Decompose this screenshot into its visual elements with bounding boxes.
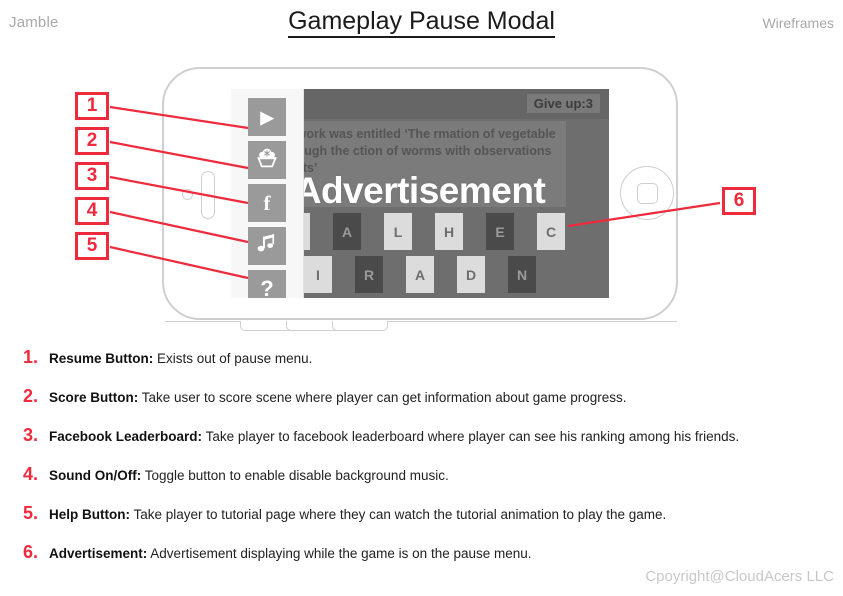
copyright-label: Cpoyright@CloudAcers LLC (645, 568, 834, 585)
legend-body: Resume Button: Exists out of pause menu. (49, 350, 823, 367)
home-button[interactable] (620, 166, 674, 220)
letter-tile[interactable]: L (384, 213, 412, 250)
legend-desc: Toggle button to enable disable backgrou… (145, 468, 449, 483)
legend-body: Score Button: Take user to score scene w… (49, 389, 823, 406)
legend-number: 5. (23, 503, 38, 524)
home-button-square-icon (637, 183, 658, 204)
legend-desc: Take player to facebook leaderboard wher… (206, 429, 740, 444)
callout-badge-4: 4 (75, 197, 109, 225)
pause-menu-panel: ▶ f (231, 89, 304, 298)
legend-number: 4. (23, 464, 38, 485)
callout-badge-3: 3 (75, 162, 109, 190)
legend-number: 1. (23, 347, 38, 368)
legend-title: Facebook Leaderboard: (49, 429, 202, 444)
legend-desc: Take player to tutorial page where they … (134, 507, 667, 522)
legend-body: Facebook Leaderboard: Take player to fac… (49, 428, 823, 445)
resume-button[interactable]: ▶ (248, 98, 286, 136)
play-icon: ▶ (260, 109, 273, 126)
legend-item: 1. Resume Button: Exists out of pause me… (23, 350, 823, 368)
callout-badge-1: 1 (75, 92, 109, 120)
letter-tile[interactable]: C (537, 213, 565, 250)
legend-title: Resume Button: (49, 351, 153, 366)
page-header: Jamble Gameplay Pause Modal Wireframes (0, 0, 843, 50)
page-title: Gameplay Pause Modal (0, 7, 843, 36)
letter-tile[interactable]: A (333, 213, 361, 250)
phone-bottom-tab (332, 321, 388, 331)
legend-title: Help Button: (49, 507, 130, 522)
legend-number: 3. (23, 425, 38, 446)
callout-badge-2: 2 (75, 127, 109, 155)
question-mark-icon: ? (260, 278, 273, 298)
phone-mockup: Give up:3 hose last work was entitled ‘T… (162, 67, 680, 332)
legend-title: Sound On/Off: (49, 468, 141, 483)
trophy-icon (255, 147, 279, 174)
legend-desc: Advertisement displaying while the game … (150, 546, 531, 561)
phone-screen: Give up:3 hose last work was entitled ‘T… (231, 89, 609, 298)
give-up-counter[interactable]: Give up:3 (527, 94, 600, 113)
legend-item: 5. Help Button: Take player to tutorial … (23, 506, 823, 524)
earpiece-speaker-icon (201, 171, 215, 219)
music-note-icon (256, 233, 278, 260)
letter-tile[interactable]: A (406, 256, 434, 293)
letter-tile[interactable]: R (355, 256, 383, 293)
legend-body: Advertisement: Advertisement displaying … (49, 545, 823, 562)
sound-toggle-button[interactable] (248, 227, 286, 265)
legend-item: 3. Facebook Leaderboard: Take player to … (23, 428, 823, 446)
letter-tile[interactable]: N (508, 256, 536, 293)
help-button[interactable]: ? (248, 270, 286, 298)
legend-desc: Take user to score scene where player ca… (142, 390, 627, 405)
facebook-icon: f (264, 193, 271, 214)
legend-desc: Exists out of pause menu. (157, 351, 312, 366)
letter-tile[interactable]: H (435, 213, 463, 250)
facebook-leaderboard-button[interactable]: f (248, 184, 286, 222)
callout-badge-6: 6 (722, 187, 756, 215)
front-camera-icon (182, 189, 193, 200)
score-button[interactable] (248, 141, 286, 179)
letter-tile[interactable]: D (457, 256, 485, 293)
page-title-text: Gameplay Pause Modal (288, 7, 555, 38)
letter-tile[interactable]: E (486, 213, 514, 250)
legend-title: Advertisement: (49, 546, 147, 561)
legend-list: 1. Resume Button: Exists out of pause me… (23, 350, 823, 584)
section-label: Wireframes (762, 15, 834, 31)
callout-badge-5: 5 (75, 232, 109, 260)
legend-item: 2. Score Button: Take user to score scen… (23, 389, 823, 407)
legend-number: 6. (23, 542, 38, 563)
legend-body: Help Button: Take player to tutorial pag… (49, 506, 823, 523)
letter-tile[interactable]: I (304, 256, 332, 293)
legend-title: Score Button: (49, 390, 138, 405)
legend-item: 4. Sound On/Off: Toggle button to enable… (23, 467, 823, 485)
legend-number: 2. (23, 386, 38, 407)
legend-body: Sound On/Off: Toggle button to enable di… (49, 467, 823, 484)
legend-item: 6. Advertisement: Advertisement displayi… (23, 545, 823, 563)
